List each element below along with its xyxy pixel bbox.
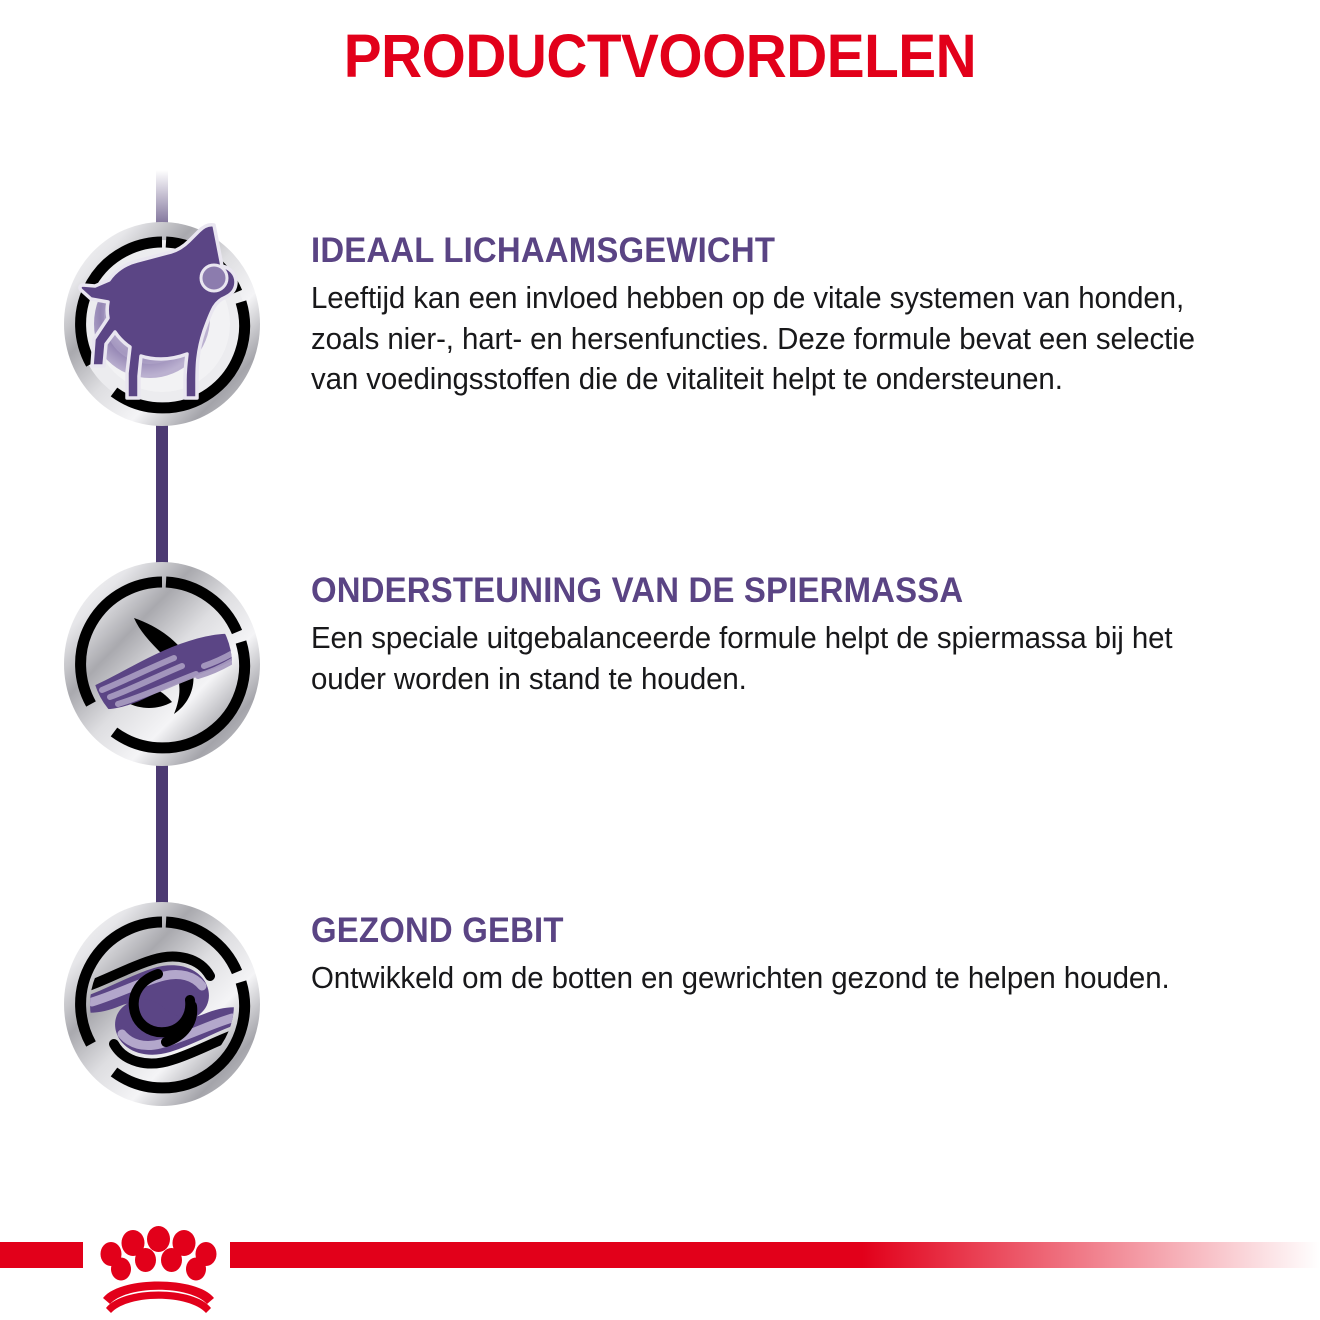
- benefit-item-2: ONDERSTEUNING VAN DE SPIERMASSA Een spec…: [0, 562, 1320, 802]
- dog-body-weight-icon: [62, 222, 262, 427]
- benefit-heading-3: GEZOND GEBIT: [311, 910, 1190, 951]
- bone-joint-icon: [62, 902, 262, 1107]
- benefit-body-3: Ontwikkeld om de botten en gewrichten ge…: [311, 958, 1199, 998]
- footer-bar-right: [230, 1242, 1320, 1268]
- footer-bar-left: [0, 1242, 83, 1268]
- benefit-body-2: Een speciale uitgebalanceerde formule he…: [311, 618, 1199, 699]
- benefit-body-1: Leeftijd kan een invloed hebben op de vi…: [311, 278, 1199, 399]
- benefit-text-1: IDEAAL LICHAAMSGEWICHT Leeftijd kan een …: [311, 230, 1246, 399]
- muscle-fiber-icon: [62, 562, 262, 767]
- benefit-heading-2: ONDERSTEUNING VAN DE SPIERMASSA: [311, 570, 1190, 611]
- page-title: PRODUCTVOORDELEN: [46, 26, 1274, 87]
- benefit-text-3: GEZOND GEBIT Ontwikkeld om de botten en …: [311, 910, 1246, 999]
- benefit-item-3: GEZOND GEBIT Ontwikkeld om de botten en …: [0, 902, 1320, 1142]
- benefit-text-2: ONDERSTEUNING VAN DE SPIERMASSA Een spec…: [311, 570, 1246, 699]
- benefit-item-1: IDEAAL LICHAAMSGEWICHT Leeftijd kan een …: [0, 222, 1320, 462]
- footer: [0, 1222, 1320, 1320]
- royal-canin-crown-logo: [86, 1222, 231, 1320]
- benefit-heading-1: IDEAAL LICHAAMSGEWICHT: [311, 230, 1190, 271]
